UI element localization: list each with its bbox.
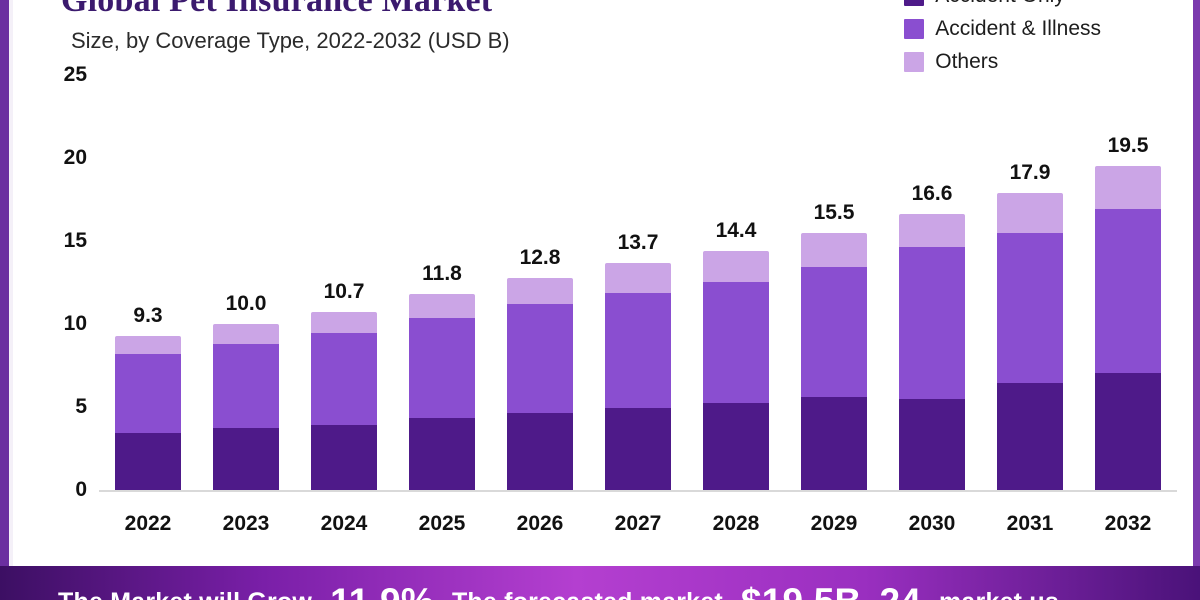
- banner-source-label: market us: [939, 588, 1059, 600]
- bar-group[interactable]: 14.42028: [696, 0, 776, 566]
- bar-stack[interactable]: [115, 336, 181, 490]
- y-axis-tick-label: 20: [64, 146, 87, 170]
- plot-area: 0510152025 9.3202210.0202310.7202411.820…: [13, 0, 1193, 566]
- x-axis-tick-label: 2023: [223, 512, 270, 536]
- bar-group[interactable]: 12.82026: [500, 0, 580, 566]
- bar-value-label: 15.5: [814, 201, 855, 225]
- banner-cagr-value: 11.9%: [330, 581, 434, 600]
- bar-stack[interactable]: [801, 233, 867, 490]
- bar-group[interactable]: 16.62030: [892, 0, 972, 566]
- bar-segment-accident-only[interactable]: [899, 399, 965, 490]
- banner-content: The Market will Grow 11.9% The forecaste…: [0, 566, 1200, 600]
- bar-group[interactable]: 10.02023: [206, 0, 286, 566]
- bar-segment-accident-illness[interactable]: [801, 267, 867, 397]
- banner-forecast-label: The forecasted market: [452, 588, 723, 600]
- x-axis-tick-label: 2030: [909, 512, 956, 536]
- bar-segment-others[interactable]: [997, 193, 1063, 233]
- bar-segment-accident-illness[interactable]: [409, 318, 475, 418]
- bar-segment-accident-only[interactable]: [409, 418, 475, 490]
- bar-segment-accident-illness[interactable]: [899, 247, 965, 399]
- x-axis-tick-label: 2022: [125, 512, 172, 536]
- bar-segment-others[interactable]: [801, 233, 867, 267]
- banner-forecast-value: $19.5B: [741, 581, 862, 600]
- bar-group[interactable]: 17.92031: [990, 0, 1070, 566]
- x-axis-tick-label: 2025: [419, 512, 466, 536]
- bar-segment-accident-illness[interactable]: [213, 344, 279, 429]
- bar-segment-others[interactable]: [213, 324, 279, 344]
- x-axis-tick-label: 2027: [615, 512, 662, 536]
- bottom-banner: The Market will Grow 11.9% The forecaste…: [0, 566, 1200, 600]
- y-axis: 0510152025: [13, 0, 99, 566]
- bar-stack[interactable]: [997, 193, 1063, 490]
- bar-segment-others[interactable]: [1095, 166, 1161, 208]
- bar-segment-accident-only[interactable]: [801, 397, 867, 490]
- bar-segment-others[interactable]: [899, 214, 965, 246]
- bar-segment-others[interactable]: [115, 336, 181, 354]
- bar-stack[interactable]: [409, 294, 475, 490]
- bar-value-label: 10.7: [324, 280, 365, 304]
- bar-segment-accident-only[interactable]: [507, 413, 573, 490]
- bar-segment-accident-illness[interactable]: [507, 304, 573, 412]
- y-axis-tick-label: 5: [75, 395, 87, 419]
- bar-value-label: 11.8: [422, 262, 462, 286]
- y-axis-tick-label: 25: [64, 63, 87, 87]
- x-axis-tick-label: 2029: [811, 512, 858, 536]
- bar-segment-accident-only[interactable]: [1095, 373, 1161, 490]
- bar-segment-accident-illness[interactable]: [311, 333, 377, 425]
- chart-card: Global Pet Insurance Market Size, by Cov…: [13, 0, 1193, 566]
- banner-source-value: 24: [879, 581, 921, 600]
- bar-stack[interactable]: [311, 312, 377, 490]
- bar-value-label: 16.6: [912, 182, 953, 206]
- bar-value-label: 12.8: [520, 246, 561, 270]
- x-axis-tick-label: 2024: [321, 512, 368, 536]
- bar-value-label: 13.7: [618, 231, 659, 255]
- bar-value-label: 17.9: [1010, 161, 1051, 185]
- bar-segment-accident-only[interactable]: [115, 433, 181, 490]
- y-axis-tick-label: 0: [75, 478, 87, 502]
- bar-group[interactable]: 9.32022: [108, 0, 188, 566]
- bar-value-label: 9.3: [133, 304, 162, 328]
- y-axis-tick-label: 10: [64, 312, 87, 336]
- bar-segment-accident-illness[interactable]: [997, 233, 1063, 383]
- bar-group[interactable]: 19.52032: [1088, 0, 1168, 566]
- bar-segment-others[interactable]: [605, 263, 671, 294]
- bar-stack[interactable]: [213, 324, 279, 490]
- bar-stack[interactable]: [899, 214, 965, 490]
- bar-segment-accident-only[interactable]: [311, 425, 377, 490]
- frame-right-border: [1193, 0, 1200, 566]
- banner-grow-label: The Market will Grow: [58, 588, 312, 600]
- bar-segment-others[interactable]: [311, 312, 377, 333]
- x-axis-tick-label: 2028: [713, 512, 760, 536]
- bar-segment-accident-illness[interactable]: [115, 354, 181, 433]
- bar-segment-others[interactable]: [507, 278, 573, 305]
- y-axis-tick-label: 15: [64, 229, 87, 253]
- bar-stack[interactable]: [507, 278, 573, 490]
- bar-segment-accident-only[interactable]: [213, 428, 279, 490]
- bar-value-label: 14.4: [716, 219, 757, 243]
- x-axis-tick-label: 2026: [517, 512, 564, 536]
- bar-segment-accident-only[interactable]: [997, 383, 1063, 490]
- bar-group[interactable]: 10.72024: [304, 0, 384, 566]
- bar-segment-accident-illness[interactable]: [703, 282, 769, 403]
- bar-stack[interactable]: [703, 251, 769, 490]
- bar-group[interactable]: 13.72027: [598, 0, 678, 566]
- bar-stack[interactable]: [605, 263, 671, 490]
- bar-value-label: 19.5: [1108, 134, 1149, 158]
- bar-segment-accident-only[interactable]: [605, 408, 671, 490]
- x-axis-tick-label: 2031: [1007, 512, 1054, 536]
- bar-group[interactable]: 15.52029: [794, 0, 874, 566]
- bar-segment-accident-illness[interactable]: [605, 293, 671, 407]
- x-axis-tick-label: 2032: [1105, 512, 1152, 536]
- bar-segment-accident-illness[interactable]: [1095, 209, 1161, 373]
- bar-segment-accident-only[interactable]: [703, 403, 769, 490]
- frame-left-border: [0, 0, 9, 566]
- bar-segment-others[interactable]: [409, 294, 475, 318]
- bar-segment-others[interactable]: [703, 251, 769, 282]
- bar-stack[interactable]: [1095, 166, 1161, 490]
- bar-group[interactable]: 11.82025: [402, 0, 482, 566]
- bar-value-label: 10.0: [226, 292, 267, 316]
- bars-row: 9.3202210.0202310.7202411.8202512.820261…: [99, 0, 1177, 566]
